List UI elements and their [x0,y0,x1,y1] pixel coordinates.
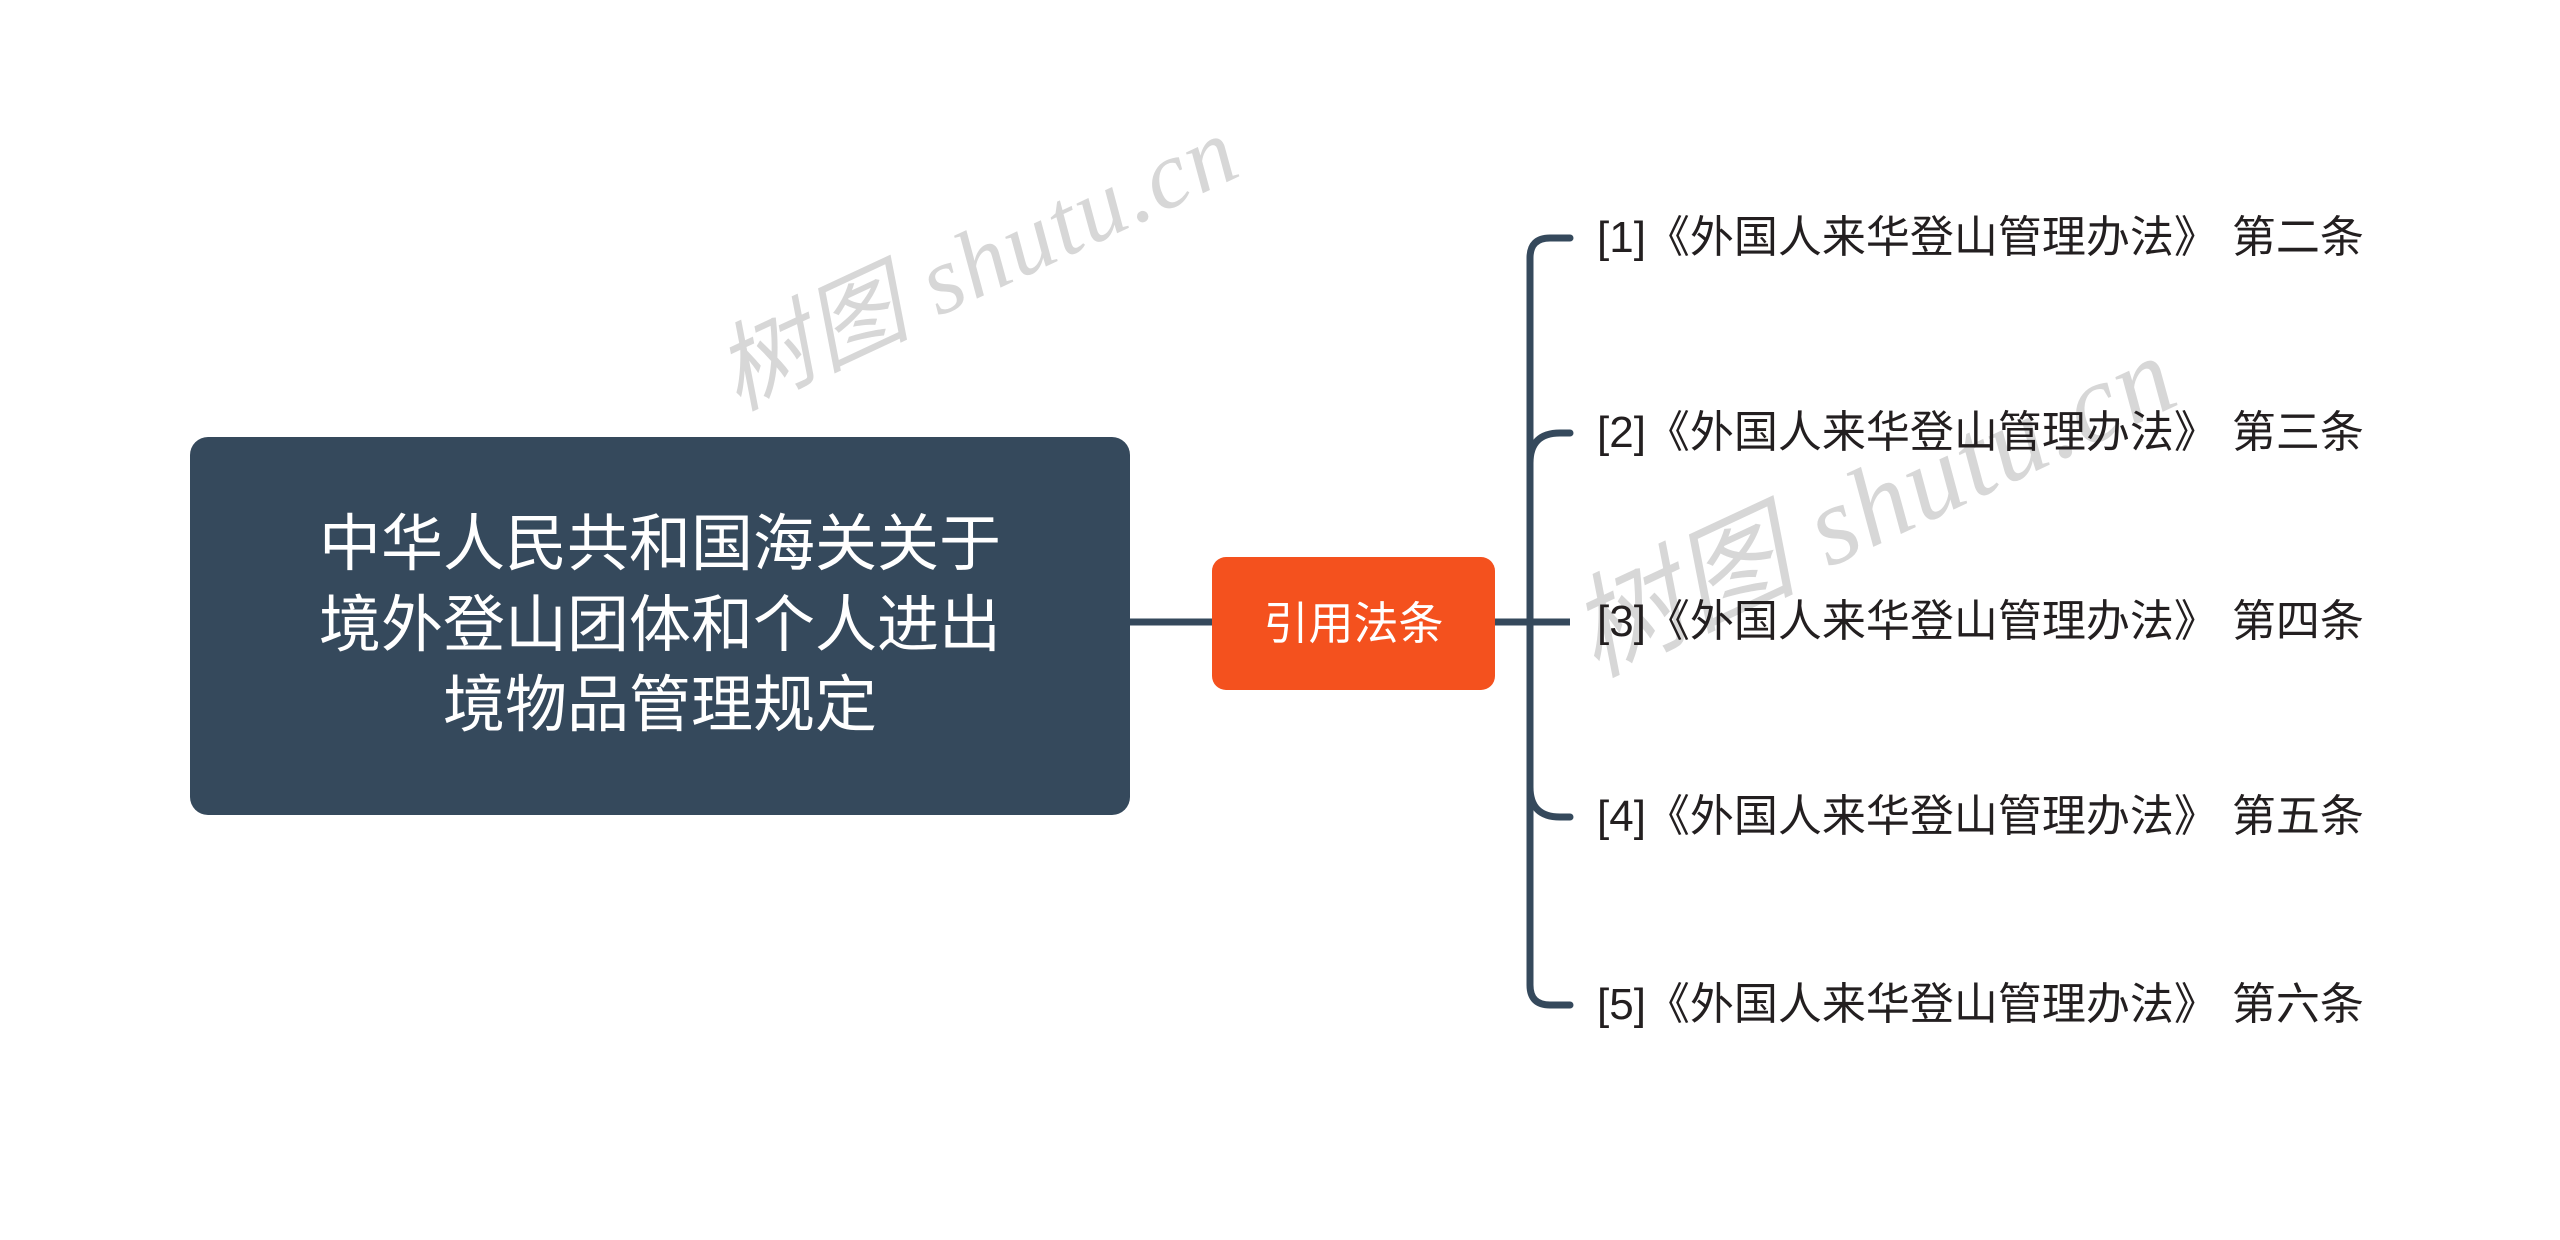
branch-node-label: 引用法条 [1263,601,1443,646]
leaf-article: 第五条 [2232,792,2364,841]
leaf-index: [3] [1597,597,1646,646]
leaf-item[interactable]: [3]《外国人来华登山管理办法》第四条 [1597,600,2364,644]
leaf-item[interactable]: [1]《外国人来华登山管理办法》第二条 [1597,216,2364,260]
leaf-title: 《外国人来华登山管理办法》 [1646,213,2218,262]
leaf-index: [5] [1597,980,1646,1029]
leaf-item[interactable]: [2]《外国人来华登山管理办法》第三条 [1597,411,2364,455]
leaf-title: 《外国人来华登山管理办法》 [1646,980,2218,1029]
leaf-article: 第二条 [2232,213,2364,262]
connector-stub-4 [1530,787,1570,817]
leaf-article: 第六条 [2232,980,2364,1029]
leaf-title: 《外国人来华登山管理办法》 [1646,792,2218,841]
mindmap-canvas: 树图 shutu.cn 树图 shutu.cn 中华人民共和国海关关于 境外登山… [0,0,2560,1240]
leaf-article: 第三条 [2232,408,2364,457]
root-node-label: 中华人民共和国海关关于 境外登山团体和个人进出 境物品管理规定 [319,505,1001,747]
leaf-index: [1] [1597,213,1646,262]
leaf-index: [4] [1597,792,1646,841]
leaf-index: [2] [1597,408,1646,457]
leaf-title: 《外国人来华登山管理办法》 [1646,408,2218,457]
connector-stub-2 [1530,433,1570,463]
leaf-title: 《外国人来华登山管理办法》 [1646,597,2218,646]
leaf-item[interactable]: [5]《外国人来华登山管理办法》第六条 [1597,983,2364,1027]
root-node[interactable]: 中华人民共和国海关关于 境外登山团体和个人进出 境物品管理规定 [190,437,1130,815]
branch-node-cited-statutes[interactable]: 引用法条 [1212,557,1495,690]
leaf-article: 第四条 [2232,597,2364,646]
leaf-item[interactable]: [4]《外国人来华登山管理办法》第五条 [1597,795,2364,839]
